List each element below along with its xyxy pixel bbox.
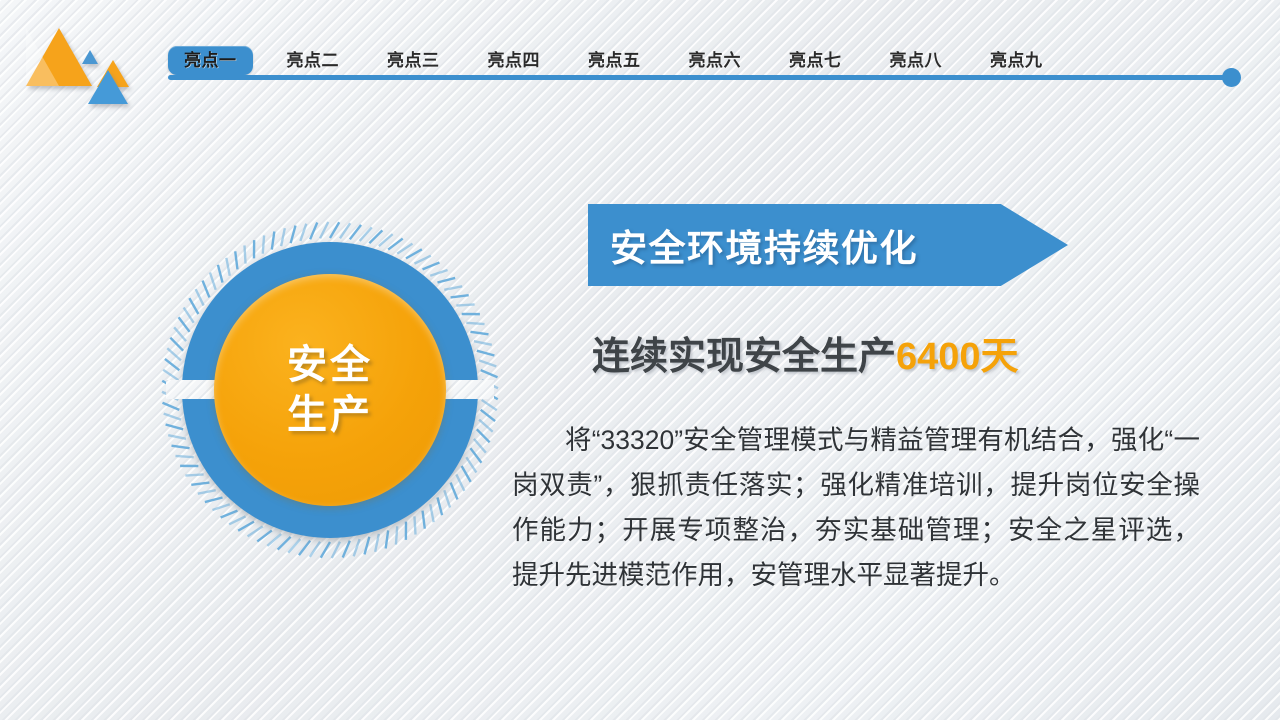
section-title-banner: 安全环境持续优化 [588,204,1068,286]
slide-header: 亮点一 亮点二 亮点三 亮点四 亮点五 亮点六 亮点七 亮点八 亮点九 [0,0,1280,110]
tab-highlight-3[interactable]: 亮点三 [373,46,454,75]
medium-blue-triangle-icon [88,70,128,104]
badge-label-line-2: 生产 [287,390,373,440]
badge-ring-gap-right [444,380,494,399]
large-orange-triangle-highlight [26,28,59,86]
tab-highlight-6[interactable]: 亮点六 [675,46,756,75]
subtitle-highlight-text: 6400天 [896,336,1019,378]
highlight-tabs-nav: 亮点一 亮点二 亮点三 亮点四 亮点五 亮点六 亮点七 亮点八 亮点九 [168,42,1077,78]
badge-label-line-1: 安全 [287,340,373,390]
subtitle-prefix-text: 连续实现安全生产 [592,336,896,378]
banner-title-text: 安全环境持续优化 [610,204,918,286]
nav-underline-end-dot-icon [1222,68,1241,87]
nav-underline-rule [168,75,1230,80]
tab-highlight-4[interactable]: 亮点四 [474,46,555,75]
small-blue-triangle-icon [82,50,98,64]
tab-highlight-2[interactable]: 亮点二 [273,46,354,75]
safety-production-badge: 安全 生产 [160,220,500,560]
body-paragraph: 将“33320”安全管理模式与精益管理有机结合，强化“一岗双责”，狠抓责任落实；… [512,418,1200,598]
slide-canvas: 亮点一 亮点二 亮点三 亮点四 亮点五 亮点六 亮点七 亮点八 亮点九 安全 生… [0,0,1280,720]
mountain-triangles-logo [18,22,128,92]
tab-highlight-9[interactable]: 亮点九 [976,46,1057,75]
tab-highlight-8[interactable]: 亮点八 [876,46,957,75]
badge-inner-circle: 安全 生产 [214,274,446,506]
tab-highlight-1[interactable]: 亮点一 [168,46,253,75]
tab-highlight-7[interactable]: 亮点七 [775,46,856,75]
subtitle-heading: 连续实现安全生产6400天 [592,325,1019,380]
badge-ring-gap-left [166,380,216,399]
tab-highlight-5[interactable]: 亮点五 [574,46,655,75]
